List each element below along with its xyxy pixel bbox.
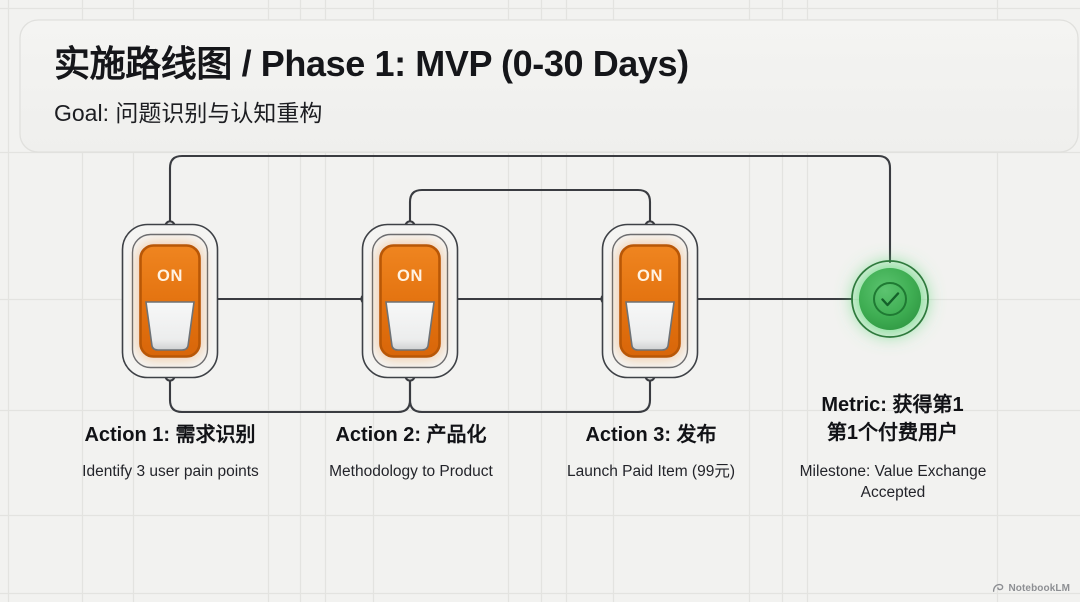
diagram-canvas: ON ON ON 实施路线图 / Phas [0,0,1080,602]
switch-on-label: ON [157,267,183,285]
switch-action-2[interactable]: ON [363,225,458,378]
switch-action-1[interactable]: ON [123,225,218,378]
action-2-subtitle: Methodology to Product [300,461,522,482]
action-3-subtitle: Launch Paid Item (99元) [540,461,762,482]
switch-on-label: ON [397,267,423,285]
milestone-title-line-1: Metric: 获得第1 [790,392,995,419]
switch-rocker-bottom [386,302,434,350]
milestone-subtitle: Milestone: Value Exchange Accepted [795,461,991,503]
switch-rocker-bottom [146,302,194,350]
milestone-disc [859,268,921,330]
action-2-title: Action 2: 产品化 [300,422,522,448]
action-3-title: Action 3: 发布 [540,422,762,448]
milestone-node[interactable] [852,261,928,337]
header-card [20,20,1078,152]
action-1-title: Action 1: 需求识别 [55,422,285,448]
switch-action-3[interactable]: ON [603,225,698,378]
page-title: 实施路线图 / Phase 1: MVP (0-30 Days) [54,42,954,86]
goal-text: Goal: 问题识别与认知重构 [54,98,754,128]
milestone-title-line-2: 第1个付费用户 [790,420,995,447]
notebooklm-logo-icon [992,582,1004,594]
switch-on-label: ON [637,267,663,285]
watermark: NotebookLM [992,582,1070,594]
switch-rocker-bottom [626,302,674,350]
roadmap-svg: ON ON ON [0,0,1080,602]
watermark-label: NotebookLM [1008,583,1070,594]
action-1-subtitle: Identify 3 user pain points [68,461,273,482]
